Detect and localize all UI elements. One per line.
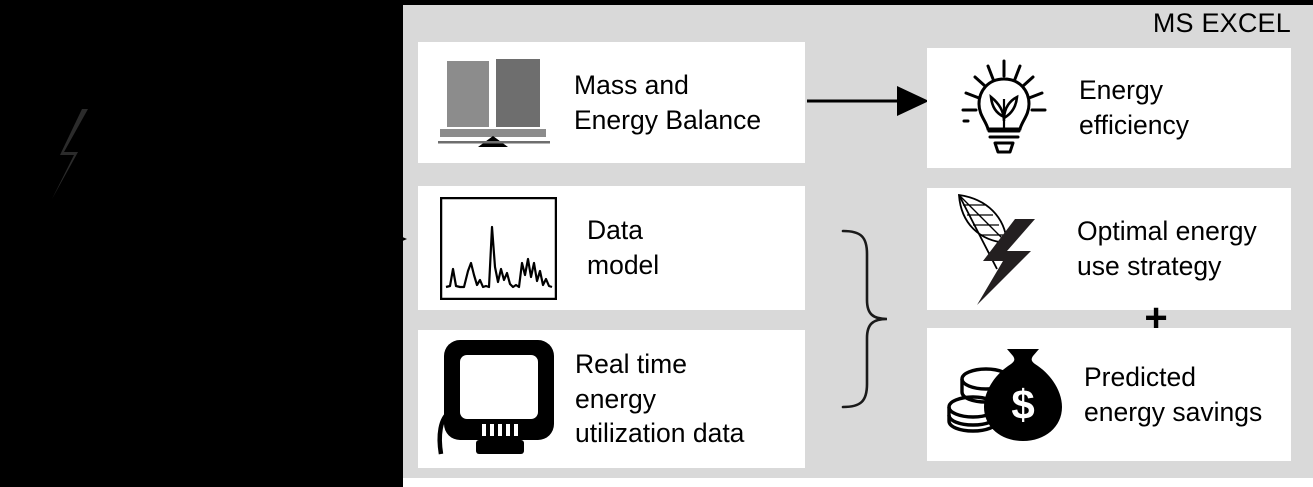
svg-text:$: $ [1011,381,1034,428]
card-real-time-energy-utilization-data[interactable]: Real time energy utilization data [418,330,805,468]
card-predicted-energy-savings[interactable]: $ Predicted energy savings [927,328,1291,461]
card-mass-energy-balance[interactable]: Mass and Energy Balance [418,42,805,163]
lightbulb-leaf-icon [955,59,1053,157]
card-optimal-energy-use-strategy[interactable]: Optimal energy use strategy [927,188,1291,310]
lightning-bolt-icon [48,108,108,200]
card-label-optimal-energy-use-strategy: Optimal energy use strategy [1077,214,1257,284]
page-title: MS EXCEL [1153,8,1291,39]
curly-brace-icon [839,228,903,410]
card-label-mass-energy-balance: Mass and Energy Balance [574,68,761,138]
diagram-canvas: MS EXCEL Mass and Energy Balance [0,0,1313,487]
card-label-predicted-energy-savings: Predicted energy savings [1084,360,1262,430]
money-bag-coins-icon: $ [947,347,1072,443]
card-data-model[interactable]: Data model [418,186,805,310]
top-divider [403,0,1313,5]
signal-chart-icon [440,197,557,300]
excel-stage: MS EXCEL Mass and Energy Balance [403,0,1313,487]
arrow-right-icon-mass-to-efficiency [805,80,931,122]
arrow-right-icon-inbound [389,224,419,254]
card-label-energy-efficiency: Energy efficiency [1079,73,1189,143]
balance-scale-icon [438,57,556,149]
card-label-data-model: Data model [587,213,659,283]
card-label-real-time-energy-utilization-data: Real time energy utilization data [575,347,744,452]
bottom-divider [403,478,1313,487]
leaf-bolt-icon [949,191,1059,307]
card-energy-efficiency[interactable]: Energy efficiency [927,48,1291,168]
monitor-icon [436,338,561,460]
left-black-panel [0,0,403,487]
